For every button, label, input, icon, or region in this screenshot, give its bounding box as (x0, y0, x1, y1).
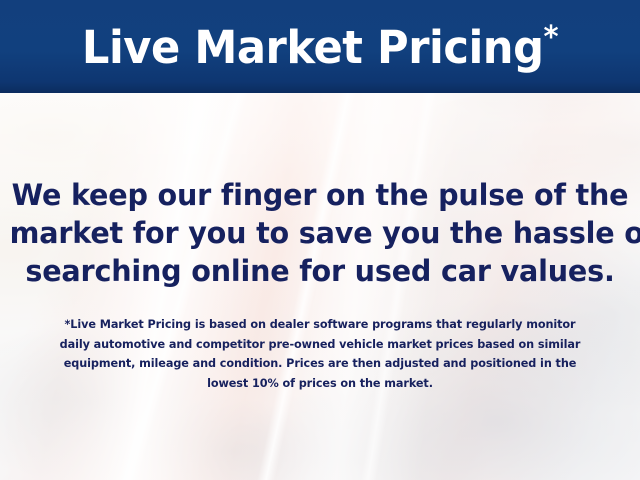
disclaimer-line-2: daily automotive and competitor pre-owne… (35, 335, 605, 355)
headline-line-2: market for you to save you the hassle of (10, 214, 631, 252)
headline-line-3: searching online for used car values. (10, 252, 631, 290)
disclaimer-line-4: lowest 10% of prices on the market. (35, 374, 605, 394)
page-title-text: Live Market Pricing (82, 21, 544, 74)
headline-line-1: We keep our finger on the pulse of the (10, 176, 631, 214)
live-market-pricing-promo-card: Live Market Pricing* We keep our finger … (0, 0, 640, 480)
headline: We keep our finger on the pulse of the m… (10, 176, 631, 290)
disclaimer-line-3: equipment, mileage and condition. Prices… (35, 354, 605, 374)
disclaimer-line-1: *Live Market Pricing is based on dealer … (35, 315, 605, 335)
disclaimer-fine-print: *Live Market Pricing is based on dealer … (35, 315, 605, 393)
page-title-asterisk: * (543, 20, 558, 55)
content-area: We keep our finger on the pulse of the m… (0, 93, 640, 480)
header-banner: Live Market Pricing* (0, 0, 640, 93)
page-title: Live Market Pricing* (82, 23, 559, 70)
